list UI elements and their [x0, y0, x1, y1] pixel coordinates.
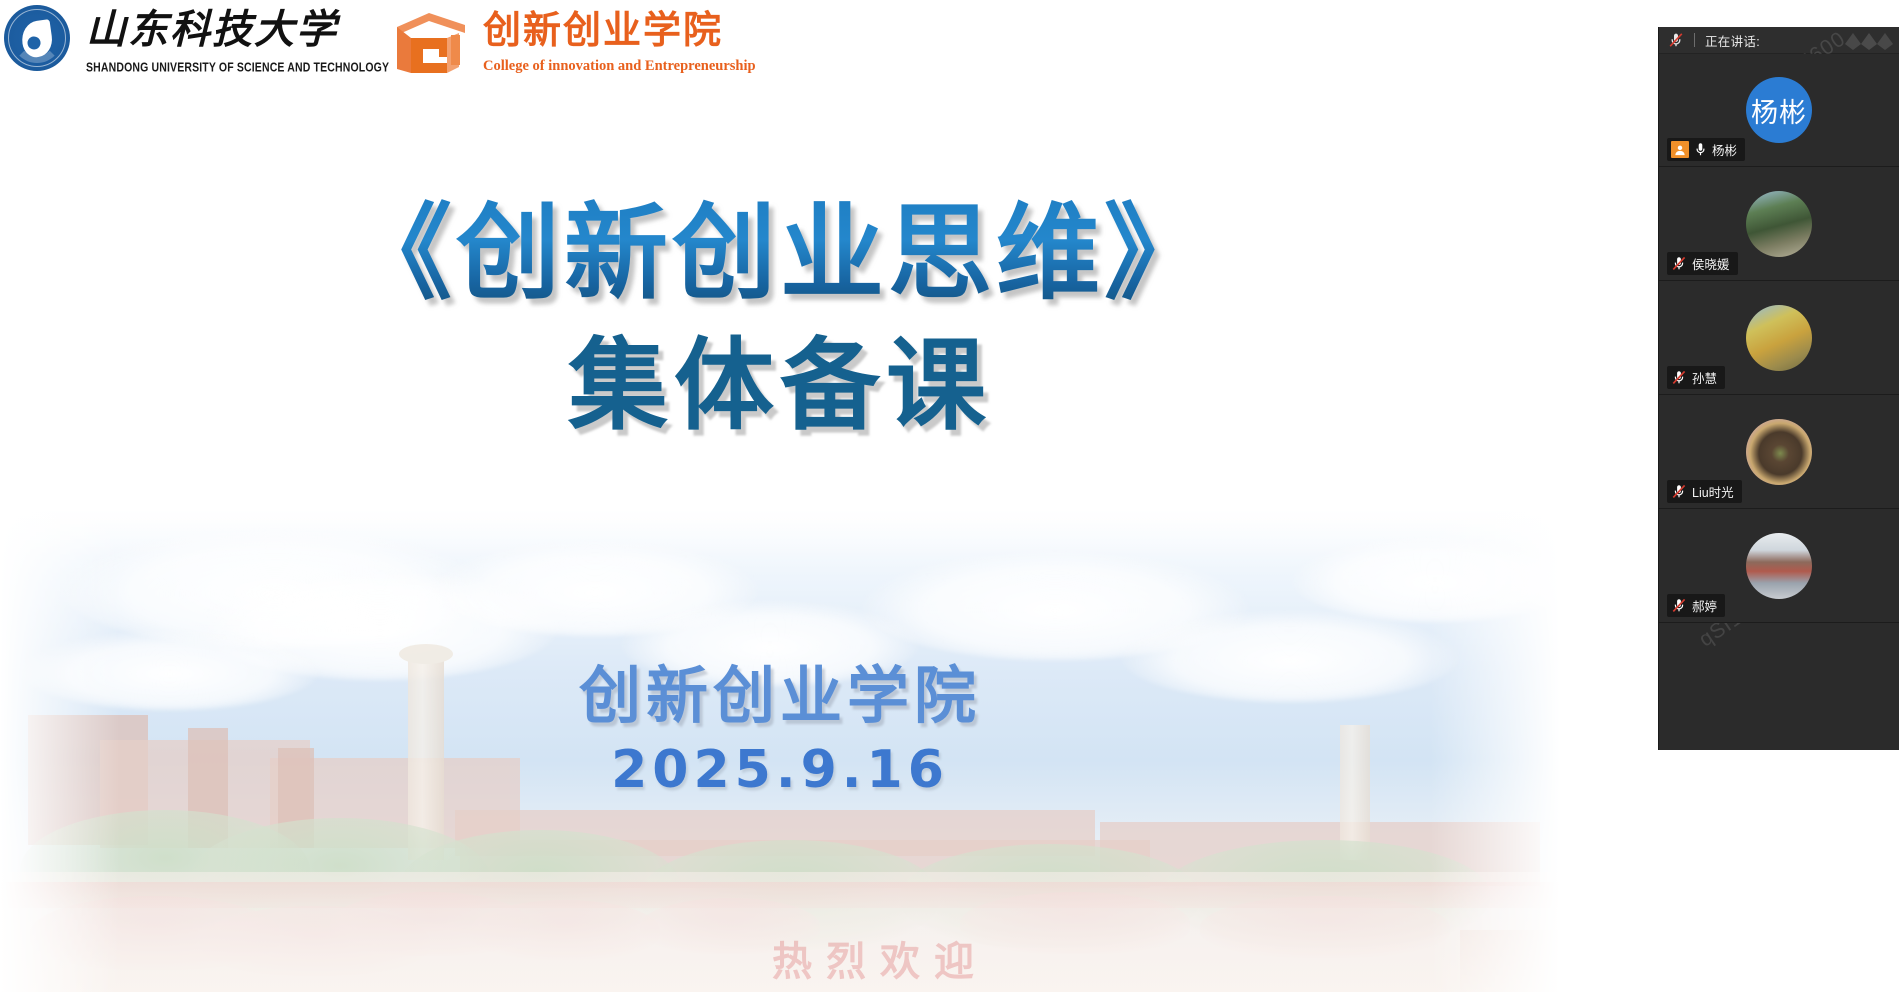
header-divider — [1694, 33, 1695, 47]
participants-video-panel[interactable]: 正在讲话: qSI15g 田铮 5600 qSI15g 田铮 5600 qSI1… — [1658, 27, 1899, 750]
host-badge-icon — [1671, 141, 1689, 158]
university-name-en: SHANDONG UNIVERSITY OF SCIENCE AND TECHN… — [86, 60, 336, 75]
nameplate: 郝婷 — [1667, 594, 1725, 617]
background-banner-text: 热烈欢迎 — [560, 932, 1200, 992]
slide-organization: 创新创业学院 — [0, 645, 1560, 735]
college-logo-icon — [389, 11, 473, 74]
avatar: 杨彬 — [1746, 77, 1812, 143]
slide-date: 2025.9.16 — [0, 740, 1560, 800]
university-name-cn: 山东科技大学 — [86, 4, 316, 56]
mic-muted-icon[interactable] — [1671, 484, 1687, 499]
avatar — [1746, 191, 1812, 257]
app-logo-watermark-icon — [1841, 30, 1895, 51]
mic-muted-icon[interactable] — [1671, 370, 1687, 385]
avatar — [1746, 419, 1812, 485]
nameplate: 孙慧 — [1667, 366, 1725, 389]
nameplate: 侯晓媛 — [1667, 252, 1738, 275]
slide-subtitle: 集体备课 — [0, 330, 1560, 442]
mic-muted-icon[interactable] — [1668, 32, 1684, 48]
active-speaker-header: 正在讲话: — [1659, 27, 1899, 54]
nameplate: Liu时光 — [1667, 480, 1742, 503]
avatar — [1746, 533, 1812, 599]
participant-tile[interactable]: Liu时光 — [1659, 395, 1899, 509]
mic-muted-icon[interactable] — [1671, 598, 1687, 613]
avatar — [1746, 305, 1812, 371]
university-seal-icon — [4, 5, 70, 71]
participant-tile[interactable]: 杨彬 杨彬 — [1659, 54, 1899, 167]
mic-on-icon[interactable] — [1694, 142, 1707, 157]
presentation-slide: 热烈欢迎 山东科技大学 SHANDONG UNIVERSITY OF SCIEN… — [0, 0, 1899, 992]
photo-top-fade — [0, 430, 1560, 560]
nameplate: 杨彬 — [1667, 138, 1745, 161]
participant-name: 侯晓媛 — [1692, 254, 1730, 273]
speaking-label: 正在讲话: — [1705, 31, 1760, 50]
participant-name: 孙慧 — [1692, 368, 1717, 387]
college-name-cn: 创新创业学院 — [483, 8, 723, 54]
slide-title: 《创新创业思维》 — [0, 196, 1560, 312]
participant-tile[interactable]: 孙慧 — [1659, 281, 1899, 395]
mic-muted-icon[interactable] — [1671, 256, 1687, 271]
participant-name: 杨彬 — [1712, 140, 1737, 159]
participant-tile[interactable]: 郝婷 — [1659, 509, 1899, 623]
participant-tile[interactable]: 侯晓媛 — [1659, 167, 1899, 281]
college-name-en: College of innovation and Entrepreneursh… — [483, 58, 756, 75]
participant-name: Liu时光 — [1692, 482, 1734, 501]
participant-name: 郝婷 — [1692, 596, 1717, 615]
